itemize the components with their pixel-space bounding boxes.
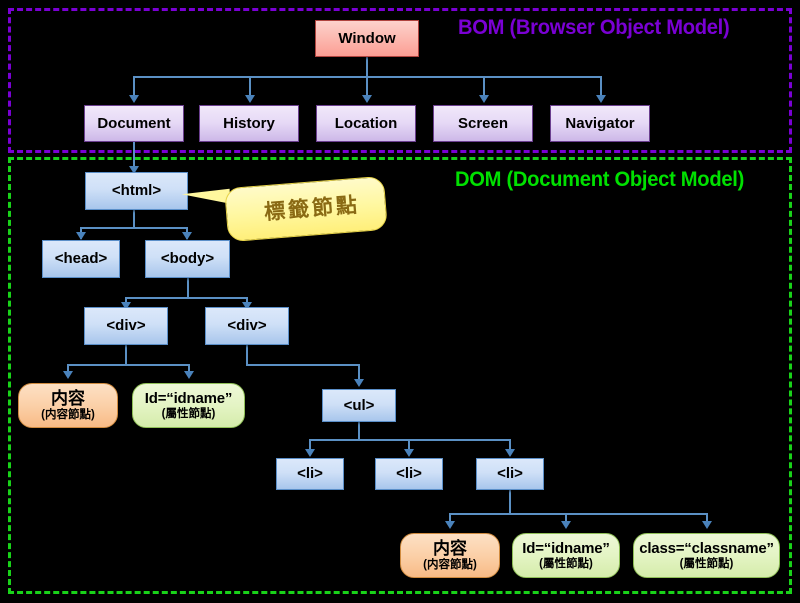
node-navigator[interactable]: Navigator <box>550 105 650 142</box>
node-div-attr-id-subtitle: (屬性節點) <box>162 408 216 420</box>
connector-window-stem <box>366 57 368 77</box>
node-div-content-subtitle: (内容節點) <box>41 409 95 421</box>
node-li-2-label: <li> <box>396 466 422 482</box>
callout-tail <box>182 189 231 206</box>
arrow-li-2 <box>404 449 414 457</box>
node-li-2[interactable]: <li> <box>375 458 443 490</box>
node-li-attr-id[interactable]: Id=“idname” (屬性節點) <box>512 533 620 578</box>
connector-li3-bus <box>449 513 707 515</box>
node-div-attr-id[interactable]: Id=“idname” (屬性節點) <box>132 383 245 428</box>
arrow-li-attr-id <box>561 521 571 529</box>
arrow-div-attr <box>184 371 194 379</box>
arrow-div-content <box>63 371 73 379</box>
connector-divleft-bus <box>67 364 189 366</box>
arrow-li-content <box>445 521 455 529</box>
connector-divleft-stem <box>125 345 127 365</box>
connector-body-stem <box>187 278 189 298</box>
node-li-3[interactable]: <li> <box>476 458 544 490</box>
dom-region-frame <box>8 157 792 594</box>
node-li-content-subtitle: (内容節點) <box>423 559 477 571</box>
node-head-label: <head> <box>55 251 108 267</box>
node-li-attr-class-title: class=“classname” <box>639 541 774 557</box>
node-li-content-title: 内容 <box>433 540 467 558</box>
dom-region-title: DOM (Document Object Model) <box>455 168 744 192</box>
arrow-ul <box>354 379 364 387</box>
node-location[interactable]: Location <box>316 105 416 142</box>
arrow-li-1 <box>305 449 315 457</box>
node-li-1[interactable]: <li> <box>276 458 344 490</box>
node-li-3-label: <li> <box>497 466 523 482</box>
callout-tag-node[interactable]: 標籤節點 <box>226 182 384 234</box>
connector-to-screen <box>483 76 485 96</box>
node-div-left-label: <div> <box>106 318 145 334</box>
connector-to-navigator <box>600 76 602 96</box>
node-li-attr-id-subtitle: (屬性節點) <box>539 558 593 570</box>
arrow-location <box>362 95 372 103</box>
arrow-li-3 <box>505 449 515 457</box>
node-li-attr-class[interactable]: class=“classname” (屬性節點) <box>633 533 780 578</box>
bom-region-title: BOM (Browser Object Model) <box>458 16 729 40</box>
node-ul-label: <ul> <box>344 398 375 414</box>
node-location-label: Location <box>335 116 398 132</box>
arrow-body <box>182 232 192 240</box>
arrow-document <box>129 95 139 103</box>
node-div-content[interactable]: 内容 (内容節點) <box>18 383 118 428</box>
arrow-head <box>76 232 86 240</box>
node-navigator-label: Navigator <box>565 116 634 132</box>
node-div-left[interactable]: <div> <box>84 307 168 345</box>
node-screen-label: Screen <box>458 116 508 132</box>
node-div-right-label: <div> <box>227 318 266 334</box>
node-html[interactable]: <html> <box>85 172 188 210</box>
connector-to-location <box>366 76 368 96</box>
arrow-history <box>245 95 255 103</box>
node-history[interactable]: History <box>199 105 299 142</box>
node-history-label: History <box>223 116 275 132</box>
node-li-content[interactable]: 内容 (内容節點) <box>400 533 500 578</box>
node-body[interactable]: <body> <box>145 240 230 278</box>
node-div-right[interactable]: <div> <box>205 307 289 345</box>
node-window[interactable]: Window <box>315 20 419 57</box>
diagram-canvas: BOM (Browser Object Model) DOM (Document… <box>0 0 800 603</box>
node-head[interactable]: <head> <box>42 240 120 278</box>
node-li-1-label: <li> <box>297 466 323 482</box>
connector-to-document <box>133 76 135 96</box>
node-li-attr-id-title: Id=“idname” <box>522 541 609 557</box>
node-html-label: <html> <box>112 183 161 199</box>
connector-divright-bus <box>246 364 359 366</box>
connector-html-stem <box>133 210 135 228</box>
node-screen[interactable]: Screen <box>433 105 533 142</box>
connector-to-history <box>249 76 251 96</box>
connector-html-bus <box>80 227 188 229</box>
node-window-label: Window <box>338 31 395 47</box>
node-body-label: <body> <box>161 251 214 267</box>
connector-ul-stem <box>358 422 360 440</box>
arrow-screen <box>479 95 489 103</box>
node-ul[interactable]: <ul> <box>322 389 396 422</box>
connector-divright-stem <box>246 345 248 365</box>
node-document[interactable]: Document <box>84 105 184 142</box>
node-div-content-title: 内容 <box>51 390 85 408</box>
connector-body-bus <box>125 297 247 299</box>
node-document-label: Document <box>97 116 170 132</box>
node-div-attr-id-title: Id=“idname” <box>145 391 232 407</box>
node-li-attr-class-subtitle: (屬性節點) <box>680 558 734 570</box>
connector-li3-stem <box>509 490 511 514</box>
arrow-navigator <box>596 95 606 103</box>
arrow-li-attr-class <box>702 521 712 529</box>
